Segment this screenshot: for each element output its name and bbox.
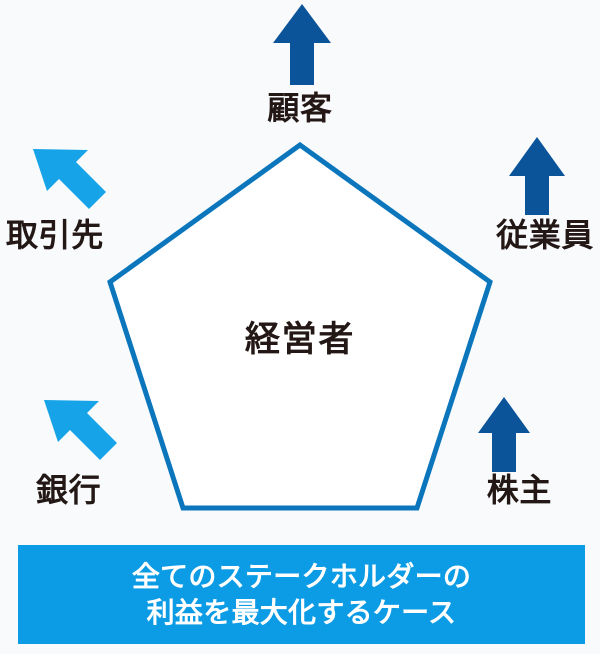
caption-banner: 全てのステークホルダーの 利益を最大化するケース [18,545,585,644]
arrow-customers-icon [273,4,331,85]
arrow-partners-icon [33,149,106,209]
pentagon-center-label: 経営者 [0,322,600,357]
stakeholder-label-customers: 顧客 [0,92,600,124]
arrow-employees-icon [509,137,565,215]
stakeholder-label-employees: 従業員 [496,219,594,251]
stakeholder-label-bank: 銀行 [36,474,101,506]
stakeholder-label-shareholders: 株主 [487,474,552,506]
arrow-bank-icon [44,400,117,460]
arrow-shareholders-icon [478,397,530,472]
diagram-canvas: 顧客 取引先 従業員 銀行 株主 経営者 全てのステークホルダーの 利益を最大化… [0,0,600,654]
stakeholder-label-partners: 取引先 [6,219,104,251]
caption-banner-line-2: 利益を最大化するケース [147,595,457,631]
caption-banner-line-1: 全てのステークホルダーの [132,559,471,595]
